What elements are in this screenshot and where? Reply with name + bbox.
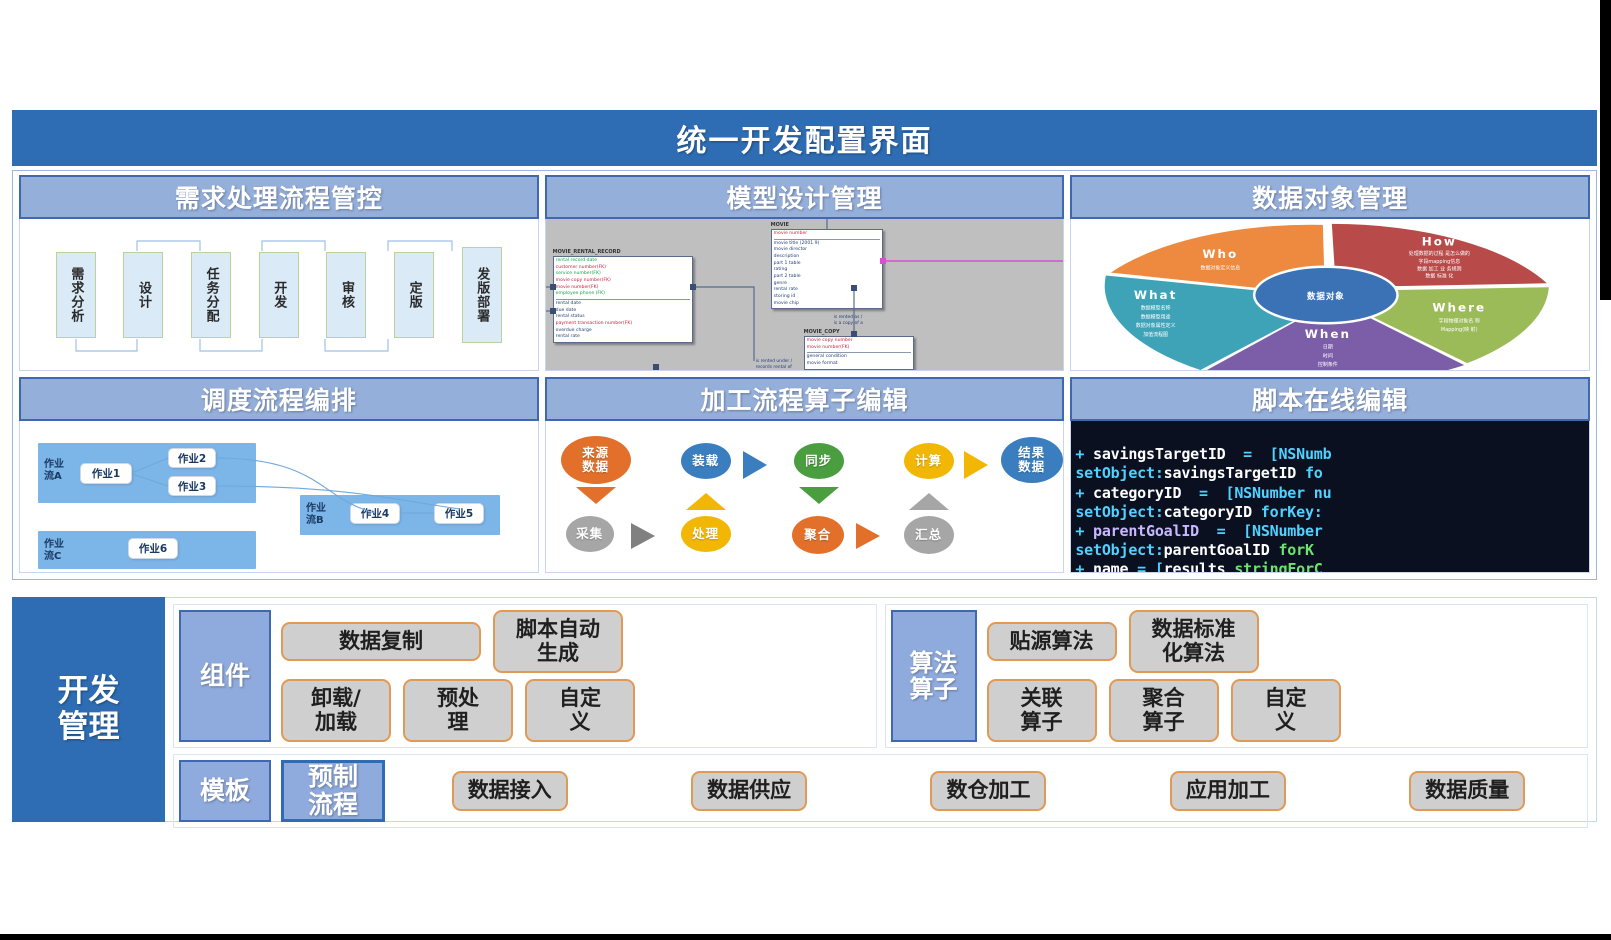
pie-label-what: What <box>1134 288 1177 302</box>
process-step[interactable]: 任务分配 <box>191 252 231 338</box>
panel-model-design[interactable]: MOVIE_RENTAL_RECORD rental record date c… <box>545 219 1065 371</box>
section-header-requirement-process: 需求处理流程管控 <box>19 175 539 219</box>
pie-sublabel: 数据对象属性定义 <box>1136 322 1176 329</box>
pie-sublabel: 数据模型名称 <box>1141 305 1171 312</box>
job-lane-label: 作业 流B <box>306 503 326 526</box>
process-step[interactable]: 审核 <box>326 252 366 338</box>
chip-application-processing[interactable]: 应用加工 <box>1170 771 1286 811</box>
pie-sublabel: 控制条件 <box>1318 361 1338 368</box>
job-node[interactable]: 作业5 <box>434 503 484 524</box>
job-flow-diagram: 作业 流A 作业1 作业2 作业3 作业 流B 作业4 作业5 作业 流C 作业… <box>20 421 538 572</box>
process-step[interactable]: 开发 <box>259 252 299 338</box>
er-diagram: MOVIE_RENTAL_RECORD rental record date c… <box>546 219 1064 370</box>
dev-management-content: 组件 数据复制 脚本自动 生成 卸载/ 加载 预处 理 自定 义 算法 算子 <box>165 597 1597 822</box>
job-node[interactable]: 作业4 <box>350 503 400 524</box>
pie-sublabel: 字段物理对象名 称 <box>1439 317 1480 324</box>
pie-sublabel: 数据 加工 业 务规则 <box>1417 266 1461 273</box>
chip-data-standardization-algorithm[interactable]: 数据标准 化算法 <box>1129 610 1259 673</box>
pie-label-how: How <box>1422 234 1457 248</box>
data-object-pie-chart: Who 数据对象定义信息 What 数据模型名称 数据模型用途 数据对象属性定义… <box>1071 219 1589 370</box>
dev-block-algorithms: 算法 算子 贴源算法 数据标准 化算法 关联 算子 聚合 算子 自定 义 <box>885 604 1589 748</box>
operator-node-aggregate[interactable]: 聚合 <box>792 516 844 554</box>
section-header-schedule-flow: 调度流程编排 <box>19 377 539 421</box>
operator-node-sync[interactable]: 同步 <box>794 443 844 479</box>
arrow-up-icon <box>686 493 726 510</box>
pie-sublabel: 时间 <box>1323 352 1333 359</box>
job-node[interactable]: 作业1 <box>80 463 132 484</box>
pie-sublabel: Mapping(映 射) <box>1441 326 1478 333</box>
section-schedule-flow: 调度流程编排 作业 流A 作业1 作业2 作业3 作业 流B 作业4 作业5 作… <box>19 377 539 573</box>
panels-container: 需求处理流程管控 需求分析 设计 任务分配 开发 审核 定版 发版部署 <box>12 170 1597 580</box>
operator-node-result[interactable]: 结果 数据 <box>1001 437 1063 483</box>
dev-management-title: 开发 管理 <box>12 597 165 822</box>
panel-row-2: 调度流程编排 作业 流A 作业1 作业2 作业3 作业 流B 作业4 作业5 作… <box>19 377 1590 573</box>
process-flow-diagram: 需求分析 设计 任务分配 开发 审核 定版 发版部署 <box>20 219 538 370</box>
process-step[interactable]: 定版 <box>394 252 434 338</box>
chip-data-supply[interactable]: 数据供应 <box>691 771 807 811</box>
chip-source-algorithm[interactable]: 贴源算法 <box>987 622 1117 662</box>
pie-sublabel: 数据模型用途 <box>1141 313 1171 320</box>
pie-sublabel: 处理数据的过程 是怎么做的 <box>1409 250 1470 257</box>
er-relationship-lines <box>546 219 1064 370</box>
component-chip-group: 数据复制 脚本自动 生成 卸载/ 加载 预处 理 自定 义 <box>281 610 871 742</box>
chip-preprocess[interactable]: 预处 理 <box>403 679 513 742</box>
pie-sublabel: 加值流程图 <box>1144 331 1169 338</box>
panel-requirement-process[interactable]: 需求分析 设计 任务分配 开发 审核 定版 发版部署 <box>19 219 539 371</box>
operator-node-source[interactable]: 来源 数据 <box>561 436 631 484</box>
job-lane-label: 作业 流A <box>44 459 64 482</box>
section-model-design: 模型设计管理 MOVIE_RENTAL_RECORD rental record… <box>545 175 1065 371</box>
job-lane-label: 作业 流C <box>44 539 64 562</box>
chip-script-auto-generation[interactable]: 脚本自动 生成 <box>493 610 623 673</box>
chip-data-replication[interactable]: 数据复制 <box>281 622 481 662</box>
chip-aggregate-operator[interactable]: 聚合 算子 <box>1109 679 1219 742</box>
arrow-down-icon <box>576 487 616 504</box>
pie-sublabel: 字段mapping信息 <box>1419 258 1461 265</box>
section-operator-edit: 加工流程算子编辑 来源 数据 装载 同步 计算 结果 数据 采集 处理 聚合 汇… <box>545 377 1065 573</box>
bottom-edge-strip <box>0 934 1611 940</box>
arrow-right-icon <box>856 523 880 549</box>
dev-row-templates: 模板 预制 流程 数据接入 数据供应 数仓加工 应用加工 数据质量 <box>173 754 1588 828</box>
pie-label-where: Where <box>1433 301 1487 315</box>
panel-script-editor[interactable]: + savingsTargetID = [NSNumb setObject:sa… <box>1070 421 1590 573</box>
panel-data-object[interactable]: Who 数据对象定义信息 What 数据模型名称 数据模型用途 数据对象属性定义… <box>1070 219 1590 371</box>
pie-sublabel: 数据对象定义信息 <box>1201 265 1241 272</box>
dev-row-components-algorithms: 组件 数据复制 脚本自动 生成 卸载/ 加载 预处 理 自定 义 算法 算子 <box>173 604 1588 748</box>
pie-center-label: 数据对象 <box>1307 291 1345 301</box>
job-node[interactable]: 作业2 <box>168 448 216 468</box>
chip-custom-operator[interactable]: 自定 义 <box>1231 679 1341 742</box>
chip-unload-load[interactable]: 卸载/ 加载 <box>281 679 391 742</box>
pie-label-who: Who <box>1203 247 1239 261</box>
chip-data-quality[interactable]: 数据质量 <box>1409 771 1525 811</box>
pie-sublabel: 数据 标准 化 <box>1426 273 1454 280</box>
section-header-operator-edit: 加工流程算子编辑 <box>545 377 1065 421</box>
job-node[interactable]: 作业6 <box>128 538 178 559</box>
operator-node-load[interactable]: 装载 <box>681 443 731 479</box>
section-header-script-editor: 脚本在线编辑 <box>1070 377 1590 421</box>
section-requirement-process: 需求处理流程管控 需求分析 设计 任务分配 开发 审核 定版 发版部署 <box>19 175 539 371</box>
arrow-down-icon <box>799 487 839 504</box>
code-editor-area[interactable]: + savingsTargetID = [NSNumb setObject:sa… <box>1071 421 1589 572</box>
process-step[interactable]: 设计 <box>123 252 163 338</box>
algorithm-chip-row-top: 贴源算法 数据标准 化算法 <box>987 610 1583 673</box>
template-block: 模板 预制 流程 数据接入 数据供应 数仓加工 应用加工 数据质量 <box>173 754 1588 828</box>
section-header-model-design: 模型设计管理 <box>545 175 1065 219</box>
arrow-right-icon <box>631 523 655 549</box>
pie-sublabel: 日期 <box>1323 345 1333 351</box>
operator-node-compute[interactable]: 计算 <box>904 443 954 479</box>
dev-block-components: 组件 数据复制 脚本自动 生成 卸载/ 加载 预处 理 自定 义 <box>173 604 877 748</box>
process-step[interactable]: 发版部署 <box>462 247 502 343</box>
development-management-section: 开发 管理 组件 数据复制 脚本自动 生成 卸载/ 加载 预处 理 自定 义 <box>12 597 1597 822</box>
panel-row-1: 需求处理流程管控 需求分析 设计 任务分配 开发 审核 定版 发版部署 <box>19 175 1590 371</box>
category-algorithm-operators[interactable]: 算法 算子 <box>891 610 977 742</box>
chip-data-ingestion[interactable]: 数据接入 <box>452 771 568 811</box>
process-step[interactable]: 需求分析 <box>56 252 96 338</box>
category-components[interactable]: 组件 <box>179 610 271 742</box>
section-script-editor: 脚本在线编辑 + savingsTargetID = [NSNumb setOb… <box>1070 377 1590 573</box>
pie-label-when: When <box>1305 327 1351 341</box>
algorithm-chip-row-bottom: 关联 算子 聚合 算子 自定 义 <box>987 679 1583 742</box>
panel-operator-edit[interactable]: 来源 数据 装载 同步 计算 结果 数据 采集 处理 聚合 汇总 <box>545 421 1065 573</box>
job-node[interactable]: 作业3 <box>168 476 216 496</box>
right-edge-strip <box>1600 0 1611 300</box>
chip-warehouse-processing[interactable]: 数仓加工 <box>930 771 1046 811</box>
operator-flow-diagram: 来源 数据 装载 同步 计算 结果 数据 采集 处理 聚合 汇总 <box>546 421 1064 572</box>
prefab-flow-button[interactable]: 预制 流程 <box>281 760 385 822</box>
panel-schedule-flow[interactable]: 作业 流A 作业1 作业2 作业3 作业 流B 作业4 作业5 作业 流C 作业… <box>19 421 539 573</box>
arrow-right-icon <box>743 451 767 479</box>
algorithm-chip-group: 贴源算法 数据标准 化算法 关联 算子 聚合 算子 自定 义 <box>987 610 1583 742</box>
arrow-up-icon <box>909 493 949 510</box>
template-chip-group: 数据接入 数据供应 数仓加工 应用加工 数据质量 <box>395 760 1582 822</box>
page-title: 统一开发配置界面 <box>12 110 1597 166</box>
category-template[interactable]: 模板 <box>179 760 271 822</box>
chip-join-operator[interactable]: 关联 算子 <box>987 679 1097 742</box>
operator-node-process[interactable]: 处理 <box>681 516 731 552</box>
component-chip-row-bottom: 卸载/ 加载 预处 理 自定 义 <box>281 679 871 742</box>
arrow-right-icon <box>964 451 988 479</box>
section-header-data-object: 数据对象管理 <box>1070 175 1590 219</box>
operator-node-collect[interactable]: 采集 <box>566 516 614 552</box>
section-data-object: 数据对象管理 <box>1070 175 1590 371</box>
operator-node-summary[interactable]: 汇总 <box>904 516 954 554</box>
component-chip-row-top: 数据复制 脚本自动 生成 <box>281 610 871 673</box>
job-lane-a[interactable] <box>38 443 256 503</box>
chip-custom-component[interactable]: 自定 义 <box>525 679 635 742</box>
